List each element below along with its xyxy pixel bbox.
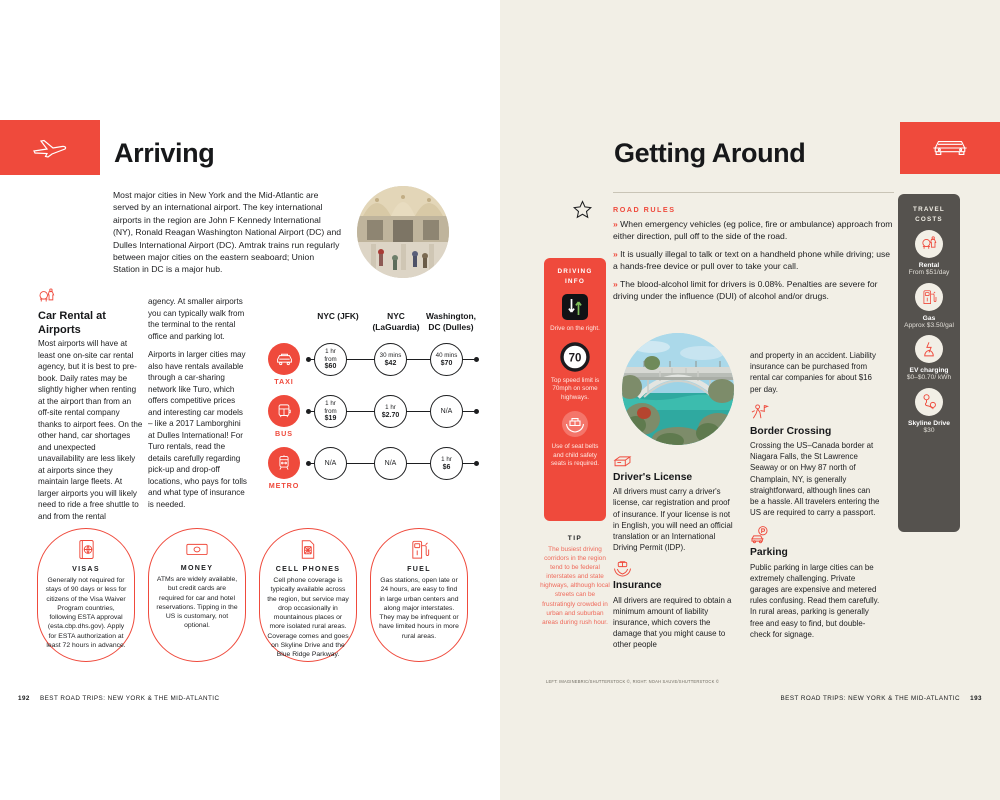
cost-item-skyline-drive: Skyline Drive $30 — [903, 388, 955, 436]
carryover-text: and property in an accident. Liability i… — [750, 350, 880, 395]
road-rule-text: The blood-alcohol limit for drivers is 0… — [613, 279, 877, 301]
section-body: All drivers must carry a driver's licens… — [613, 486, 737, 553]
fare-time: 1 hr — [441, 456, 452, 463]
travel-facts-row: VISAS Generally not required for stays o… — [37, 528, 467, 662]
seatbelt-care-icon — [549, 410, 601, 438]
fare-amount: N/A — [325, 460, 337, 467]
fare-time: 30 mins — [380, 352, 402, 359]
fact-body: Generally not required for stays of 90 d… — [45, 576, 127, 650]
road-rule-text: It is usually illegal to talk or text on… — [613, 249, 890, 271]
car-rental-column-1: Most airports will have at least one on-… — [38, 338, 143, 529]
driving-info-caption: Drive on the right. — [549, 325, 601, 334]
fact-card-fuel: FUEL Gas stations, open late or 24 hours… — [370, 528, 468, 662]
drivers-license-icon — [613, 455, 737, 469]
fare-line-endpoint — [474, 357, 479, 362]
map-pin-route-icon — [915, 388, 943, 416]
fare-mode-label: BUS — [262, 429, 306, 438]
fare-column-header: NYC (LaGuardia) — [368, 311, 424, 333]
car-rental-paragraph: Most airports will have at least one on-… — [38, 338, 143, 522]
fare-line-endpoint — [474, 461, 479, 466]
fare-line-endpoint — [474, 409, 479, 414]
section-heading: Insurance — [613, 580, 737, 591]
fare-time: 1 hr — [385, 404, 396, 411]
fare-node: 30 mins $42 — [374, 343, 407, 376]
car-rental-paragraph: Airports in larger cities may also have … — [148, 349, 248, 510]
divider — [613, 192, 894, 193]
cost-name: Gas — [903, 315, 955, 322]
section-heading: Driver's License — [613, 472, 737, 483]
cost-name: Rental — [903, 262, 955, 269]
banknote-icon — [185, 539, 209, 559]
cost-item-ev-charging: EV charging $0–$0.70/ kWh — [903, 335, 955, 383]
cost-item-rental: Rental From $51/day — [903, 230, 955, 278]
car-rental-paragraph: agency. At smaller airports you can typi… — [148, 296, 248, 342]
car-rental-icon — [915, 230, 943, 258]
left-page: Arriving Most major cities in New York a… — [0, 0, 500, 800]
fare-node: 1 hr from $60 — [314, 343, 347, 376]
chevron-bullet: » — [613, 279, 618, 289]
fare-column-header: Washington, DC (Dulles) — [422, 311, 480, 333]
arriving-header-band — [0, 120, 100, 175]
fact-card-cell-phones: CELL PHONES Cell phone coverage is typic… — [259, 528, 357, 662]
taxi-icon — [268, 343, 300, 375]
fuel-pump-icon — [915, 283, 943, 311]
book-spread: Arriving Most major cities in New York a… — [0, 0, 1000, 800]
driving-info-caption: Top speed limit is 70mph on some highway… — [549, 377, 601, 403]
fare-node: N/A — [374, 447, 407, 480]
fare-amount: $2.70 — [382, 412, 400, 419]
photo-credit: LEFT: IMAGINEBRIC/SHUTTERSTOCK ©, RIGHT:… — [546, 679, 719, 684]
section-heading: Border Crossing — [750, 426, 880, 437]
passport-icon — [77, 539, 96, 560]
car-front-icon — [930, 136, 970, 160]
fare-node: N/A — [314, 447, 347, 480]
airplane-icon — [32, 137, 68, 159]
chevron-bullet: » — [613, 219, 618, 229]
fare-row: BUS 1 hr from $19 1 hr $2.70 N/A — [262, 395, 480, 441]
road-rule-item: » It is usually illegal to talk or text … — [613, 248, 896, 272]
page-number-right: 193 — [970, 695, 982, 702]
parking-car-icon — [750, 526, 880, 544]
fare-node: 1 hr $6 — [430, 447, 463, 480]
star-outline-icon — [573, 200, 592, 219]
section-body: Public parking in large cities can be ex… — [750, 562, 880, 640]
fare-node: 1 hr $2.70 — [374, 395, 407, 428]
fare-qualifier: from — [324, 356, 336, 363]
metro-icon — [268, 447, 300, 479]
fact-title: VISAS — [72, 565, 100, 573]
svg-text:70: 70 — [569, 352, 582, 364]
cost-value: $0–$0.70/ kWh — [903, 374, 955, 383]
cost-name: Skyline Drive — [903, 420, 955, 427]
fare-amount: $6 — [443, 464, 451, 471]
page-title-arriving: Arriving — [114, 138, 214, 169]
driving-info-title: DRIVING INFO — [549, 267, 601, 286]
border-crossing-icon — [750, 403, 880, 423]
fare-amount: N/A — [441, 408, 453, 415]
fact-title: MONEY — [181, 564, 214, 572]
section-body: All drivers are required to obtain a min… — [613, 595, 737, 651]
fare-line-endpoint — [306, 461, 311, 466]
speed-limit-70-icon: 70 — [549, 342, 601, 372]
road-rule-text: When emergency vehicles (eg police, fire… — [613, 219, 892, 241]
driving-info-panel: DRIVING INFO Drive on the right. 70 Top … — [544, 258, 606, 521]
fare-amount: N/A — [385, 460, 397, 467]
fare-amount: $19 — [325, 415, 337, 422]
fact-title: FUEL — [407, 565, 431, 573]
fact-body: Gas stations, open late or 24 hours, are… — [378, 576, 460, 641]
tip-title: TIP — [540, 535, 610, 542]
right-column-a: Driver's License All drivers must carry … — [613, 455, 737, 659]
cost-value: $30 — [903, 427, 955, 436]
fare-line-endpoint — [306, 357, 311, 362]
union-station-interior-photo — [357, 186, 449, 278]
fare-node: N/A — [430, 395, 463, 428]
cost-name: EV charging — [903, 367, 955, 374]
page-number-left: 192 — [18, 695, 30, 702]
fare-row: TAXI 1 hr from $60 30 mins $42 40 mins $… — [262, 343, 480, 389]
fare-mode-label: METRO — [262, 481, 306, 490]
fare-node: 40 mins $70 — [430, 343, 463, 376]
road-rule-item: » The blood-alcohol limit for drivers is… — [613, 278, 896, 302]
footer-book-title-left: BEST ROAD TRIPS: NEW YORK & THE MID-ATLA… — [40, 695, 219, 702]
road-rules-list: » When emergency vehicles (eg police, fi… — [613, 218, 896, 309]
tip-block: TIP The busiest driving corridors in the… — [540, 535, 610, 627]
fare-time: 40 mins — [436, 352, 458, 359]
arriving-intro-text: Most major cities in New York and the Mi… — [113, 189, 343, 276]
two-way-arrows-icon — [549, 294, 601, 320]
getting-around-header-band — [900, 122, 1000, 174]
fare-qualifier: from — [324, 408, 336, 415]
bus-icon — [268, 395, 300, 427]
fare-time: 1 hr — [325, 348, 336, 355]
driving-info-caption: Use of seat belts and child safety seats… — [549, 443, 601, 469]
fact-body: Cell phone coverage is typically availab… — [267, 576, 349, 660]
road-rule-item: » When emergency vehicles (eg police, fi… — [613, 218, 896, 242]
rainbow-bridge-niagara-photo — [622, 333, 734, 445]
insurance-hands-icon — [613, 561, 737, 577]
cost-value: Approx $3.50/gal — [903, 322, 955, 331]
tip-body: The busiest driving corridors in the reg… — [540, 545, 610, 627]
fare-column-header: NYC (JFK) — [308, 311, 368, 322]
fare-row: METRO N/A N/A 1 hr $6 — [262, 447, 480, 493]
travel-costs-panel: TRAVEL COSTS Rental From $51/day Gas App… — [898, 194, 960, 532]
footer-book-title-right: BEST ROAD TRIPS: NEW YORK & THE MID-ATLA… — [781, 695, 960, 702]
airport-transport-fare-grid: NYC (JFK) NYC (LaGuardia) Washington, DC… — [262, 305, 480, 490]
fare-amount: $60 — [325, 363, 337, 370]
fare-mode-label: TAXI — [262, 377, 306, 386]
sim-card-icon — [299, 539, 317, 560]
page-title-getting-around: Getting Around — [614, 138, 805, 169]
road-rules-label: ROAD RULES — [613, 205, 676, 214]
car-rental-icon — [38, 288, 56, 306]
car-rental-heading: Car Rental at Airports — [38, 310, 146, 337]
cost-item-gas: Gas Approx $3.50/gal — [903, 283, 955, 331]
section-heading: Parking — [750, 547, 880, 558]
fare-line-endpoint — [306, 409, 311, 414]
cost-value: From $51/day — [903, 269, 955, 278]
right-column-b: and property in an accident. Liability i… — [750, 350, 880, 648]
fuel-pump-icon — [409, 539, 430, 560]
fare-node: 1 hr from $19 — [314, 395, 347, 428]
fact-title: CELL PHONES — [276, 565, 341, 573]
fact-card-money: MONEY ATMs are widely available, but cre… — [148, 528, 246, 662]
section-body: Crossing the US–Canada border at Niagara… — [750, 440, 880, 518]
travel-costs-title: TRAVEL COSTS — [903, 205, 955, 224]
fare-amount: $70 — [441, 360, 453, 367]
ev-charger-icon — [915, 335, 943, 363]
car-rental-column-2: agency. At smaller airports you can typi… — [148, 296, 248, 517]
fare-time: 1 hr — [325, 400, 336, 407]
fact-body: ATMs are widely available, but credit ca… — [156, 575, 238, 631]
fact-card-visas: VISAS Generally not required for stays o… — [37, 528, 135, 662]
chevron-bullet: » — [613, 249, 618, 259]
fare-amount: $42 — [385, 360, 397, 367]
